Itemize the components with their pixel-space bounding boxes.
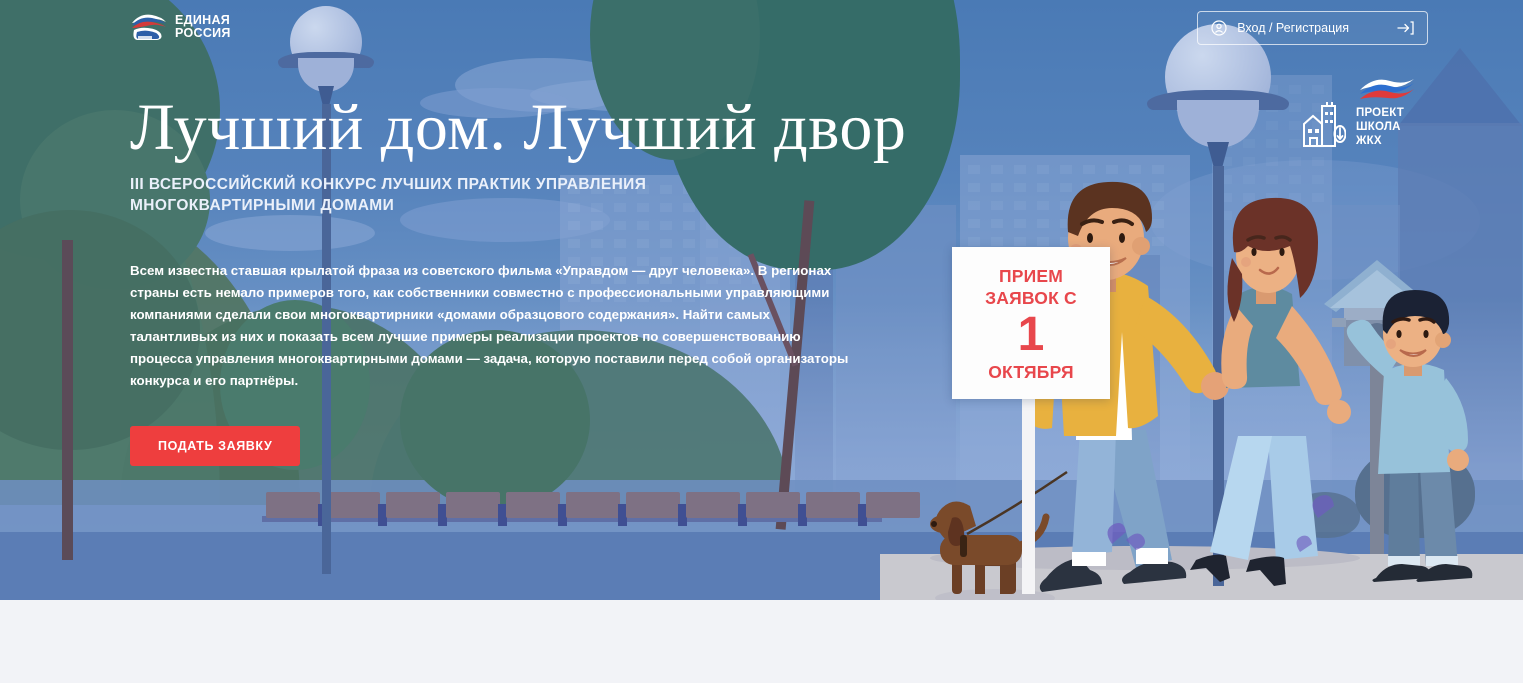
buildings-icon (1302, 100, 1346, 148)
project-logo-line-3: ЖКХ (1356, 134, 1418, 148)
project-shkola-zhkh-logo[interactable]: ПРОЕКТ ШКОЛА ЖКХ (1302, 78, 1418, 148)
fence-block (266, 492, 320, 518)
submit-application-button[interactable]: ПОДАТЬ ЗАЯВКУ (130, 426, 300, 466)
fence-block (506, 492, 560, 518)
birdhouse-icon (1318, 258, 1436, 558)
brand-logo[interactable]: ЕДИНАЯ РОССИЯ (130, 12, 231, 42)
fence-block (746, 492, 800, 518)
fence-block (686, 492, 740, 518)
sign-line-1: ПРИЕМ (999, 265, 1063, 287)
fence-block (866, 492, 920, 518)
project-logo-text: ПРОЕКТ ШКОЛА ЖКХ (1356, 106, 1418, 148)
fence-block (386, 492, 440, 518)
brand-logo-text: ЕДИНАЯ РОССИЯ (175, 14, 231, 40)
path-shadow (930, 546, 1360, 570)
login-button-label: Вход / Регистрация (1237, 21, 1349, 35)
hero-banner: ПРИЕМ ЗАЯВОК С 1 ОКТЯБРЯ (0, 0, 1523, 600)
fence-block (626, 492, 680, 518)
brand-line-2: РОССИЯ (175, 27, 231, 40)
project-logo-line-2: ШКОЛА (1356, 120, 1418, 134)
sign-month: ОКТЯБРЯ (988, 362, 1074, 382)
lamp-pole (1213, 166, 1224, 586)
fence-block (446, 492, 500, 518)
login-register-button[interactable]: Вход / Регистрация (1197, 11, 1428, 45)
login-arrow-icon (1397, 21, 1414, 35)
site-header: ЕДИНАЯ РОССИЯ Вход / Регистрация (0, 0, 1523, 60)
edinaya-rossiya-bear-logo-icon (130, 12, 168, 42)
user-circle-icon (1211, 20, 1227, 36)
tree-trunk (62, 240, 73, 560)
sign-line-2: ЗАЯВОК С (985, 287, 1077, 309)
hero-content: Лучший дом. Лучший двор III ВСЕРОССИЙСКИ… (130, 92, 890, 466)
application-start-sign: ПРИЕМ ЗАЯВОК С 1 ОКТЯБРЯ (952, 247, 1110, 399)
page-title: Лучший дом. Лучший двор (130, 92, 890, 164)
hero-description: Всем известна ставшая крылатой фраза из … (130, 260, 860, 392)
hero-subtitle: III ВСЕРОССИЙСКИЙ КОНКУРС ЛУЧШИХ ПРАКТИК… (130, 174, 730, 216)
sign-date-number: 1 (1018, 310, 1045, 360)
page-body-area (0, 600, 1523, 683)
sign-post (1022, 398, 1035, 594)
russian-flag-ribbon-icon (1356, 78, 1418, 104)
project-logo-line-1: ПРОЕКТ (1356, 106, 1418, 120)
fence-block (326, 492, 380, 518)
fence-block (806, 492, 860, 518)
fence-block (566, 492, 620, 518)
